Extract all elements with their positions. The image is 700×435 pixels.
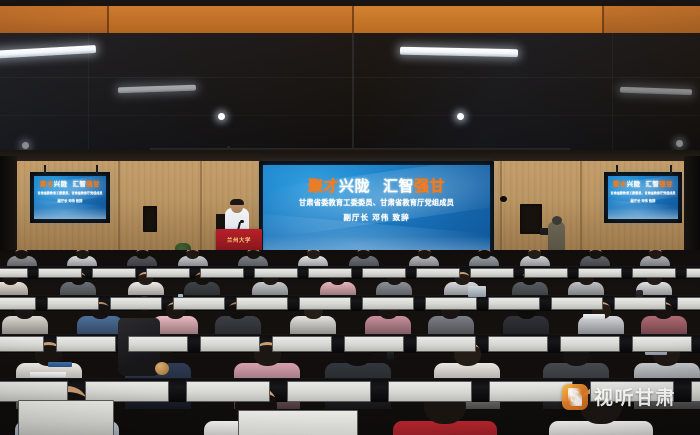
desk-front-panel xyxy=(38,268,82,278)
desk-front-panel xyxy=(85,381,169,402)
desk-front-panel xyxy=(0,381,68,402)
ceiling-wood-beam-segment xyxy=(0,6,108,33)
shiting-gansu-logo-icon: S xyxy=(562,384,588,410)
headline-part-b: 兴陇 xyxy=(54,181,68,188)
conference-hall-photo: 聚才兴陇汇智强甘 甘肃省委教育工委委员、甘肃省教育厅党组成员 副厅长 邓伟 致辞… xyxy=(0,0,700,435)
ceiling-tile-grid xyxy=(0,33,700,152)
headline-part-a: 聚才 xyxy=(40,181,54,188)
person-head xyxy=(478,250,491,259)
desk-front-panel xyxy=(632,336,692,352)
watermark: S 视听甘肃 xyxy=(562,383,676,410)
desk-front-panel xyxy=(560,336,620,352)
logo-s-glyph: S xyxy=(562,384,588,410)
desk-front-panel xyxy=(362,297,414,310)
ceiling-wood-beam-segment xyxy=(353,6,603,33)
desk-front-panel xyxy=(488,336,548,352)
desk-front-panel xyxy=(47,297,99,310)
ceiling-downlight xyxy=(457,113,464,120)
headline-part-b: 兴陇 xyxy=(339,178,370,195)
speaker-person-hair xyxy=(230,199,244,205)
bag-charm-toy xyxy=(155,362,169,375)
desk-front-panel xyxy=(186,381,270,402)
right-screen-subtitle-1: 甘肃省委教育工委委员、甘肃省教育厅党组成员 xyxy=(608,192,678,195)
ceiling-wood-beam-segment xyxy=(603,6,700,33)
person-head xyxy=(136,250,149,259)
wall-camera-dome xyxy=(500,196,507,202)
person-head xyxy=(307,250,320,259)
desk-front-panel xyxy=(388,381,472,402)
wall-service-panel xyxy=(520,204,542,234)
camera-operator-head xyxy=(552,216,562,225)
desk-front-panel xyxy=(0,297,36,310)
headline-part-c: 汇智 xyxy=(383,178,414,195)
person-head xyxy=(186,250,199,259)
desk-front-panel xyxy=(362,268,406,278)
right-screen-headline: 聚才兴陇汇智强甘 xyxy=(608,182,678,188)
left-projection-screen: 聚才兴陇汇智强甘 甘肃省委教育工委委员、甘肃省教育厅党组成员 副厅长 邓伟 致辞 xyxy=(34,176,106,219)
left-screen-subtitle-1: 甘肃省委教育工委委员、甘肃省教育厅党组成员 xyxy=(34,192,106,195)
desk-front-panel xyxy=(173,297,225,310)
person-head xyxy=(247,250,260,259)
screen-mount-rod xyxy=(670,165,672,174)
person-head xyxy=(357,250,370,259)
desk-front-panel xyxy=(489,381,573,402)
headline-part-b: 兴陇 xyxy=(627,181,641,188)
desk-front-panel xyxy=(691,381,700,402)
person-head xyxy=(589,250,602,259)
main-screen-subtitle-2: 副厅长 邓伟 致辞 xyxy=(263,214,490,222)
person-head xyxy=(649,250,662,259)
desk-front-panel xyxy=(146,268,190,278)
laptop-computer xyxy=(468,286,486,297)
ceiling-wood-beam-segment xyxy=(108,6,353,33)
ceiling-downlight xyxy=(676,140,683,147)
desk-front-panel xyxy=(308,268,352,278)
podium-label: 兰州大学 xyxy=(216,236,262,244)
desk-front-panel xyxy=(344,336,404,352)
headline-part-a: 聚才 xyxy=(308,178,339,195)
headline-part-d: 强甘 xyxy=(414,178,445,195)
headline-part-c: 汇智 xyxy=(73,181,87,188)
desk-front-panel xyxy=(200,336,260,352)
desk-front-panel xyxy=(18,400,114,435)
right-projection-screen: 聚才兴陇汇智强甘 甘肃省委教育工委委员、甘肃省教育厅党组成员 副厅长 邓伟 致辞 xyxy=(608,176,678,219)
desk-front-panel xyxy=(524,268,568,278)
desk-front-panel xyxy=(272,336,332,352)
watermark-text: 视听甘肃 xyxy=(594,383,676,410)
desk-front-panel xyxy=(238,410,358,435)
desk-front-panel xyxy=(110,297,162,310)
desk-front-panel xyxy=(614,297,666,310)
main-screen-headline: 聚才兴陇汇智强甘 xyxy=(263,179,490,194)
ceiling-downlight xyxy=(218,113,225,120)
desk-front-panel xyxy=(128,336,188,352)
screen-mount-rod xyxy=(96,165,98,174)
desk-front-panel xyxy=(632,268,676,278)
desk-front-panel xyxy=(416,336,476,352)
ceiling-downlight xyxy=(22,142,29,149)
desk-front-panel xyxy=(0,336,44,352)
desk-front-panel xyxy=(416,268,460,278)
main-led-screen: 聚才兴陇汇智强甘 甘肃省委教育工委委员、甘肃省教育厅党组成员 副厅长 邓伟 致辞 xyxy=(263,165,490,261)
desk-front-panel xyxy=(92,268,136,278)
beam-seam xyxy=(602,6,604,33)
document-papers xyxy=(48,362,72,367)
person-head xyxy=(418,250,431,259)
desk-front-panel xyxy=(578,268,622,278)
headline-part-c: 汇智 xyxy=(646,181,660,188)
main-screen-subtitle-1: 甘肃省委教育工委委员、甘肃省教育厅党组成员 xyxy=(263,199,490,206)
desk-front-panel xyxy=(425,297,477,310)
ceiling xyxy=(0,0,700,152)
person-head xyxy=(15,250,28,259)
desk-front-panel xyxy=(287,381,371,402)
document-papers xyxy=(583,314,605,319)
headline-part-d: 强甘 xyxy=(86,181,100,188)
wall-service-panel xyxy=(143,206,157,232)
left-screen-subtitle-2: 副厅长 邓伟 致辞 xyxy=(34,200,106,203)
headline-part-a: 聚才 xyxy=(613,181,627,188)
screen-mount-rod xyxy=(616,165,618,174)
person-head xyxy=(528,250,541,259)
desk-front-panel xyxy=(56,336,116,352)
desk-front-panel xyxy=(299,297,351,310)
desk-front-panel xyxy=(470,268,514,278)
headline-part-d: 强甘 xyxy=(659,181,673,188)
desk-front-panel xyxy=(677,297,700,310)
desk-front-panel xyxy=(551,297,603,310)
screen-mount-rod xyxy=(44,165,46,174)
beam-seam xyxy=(107,6,109,33)
desk-front-panel xyxy=(488,297,540,310)
left-screen-headline: 聚才兴陇汇智强甘 xyxy=(34,182,106,188)
person-head xyxy=(76,250,89,259)
beam-seam xyxy=(352,6,354,33)
podium-microphone-head xyxy=(240,220,244,223)
desk-front-panel xyxy=(0,268,28,278)
document-papers xyxy=(30,372,66,377)
wall-top-shadow-band xyxy=(0,150,700,161)
right-screen-subtitle-2: 副厅长 邓伟 致辞 xyxy=(608,200,678,203)
desk-front-panel xyxy=(236,297,288,310)
desk-front-panel xyxy=(200,268,244,278)
desk-front-panel xyxy=(686,268,700,278)
desk-front-panel xyxy=(254,268,298,278)
